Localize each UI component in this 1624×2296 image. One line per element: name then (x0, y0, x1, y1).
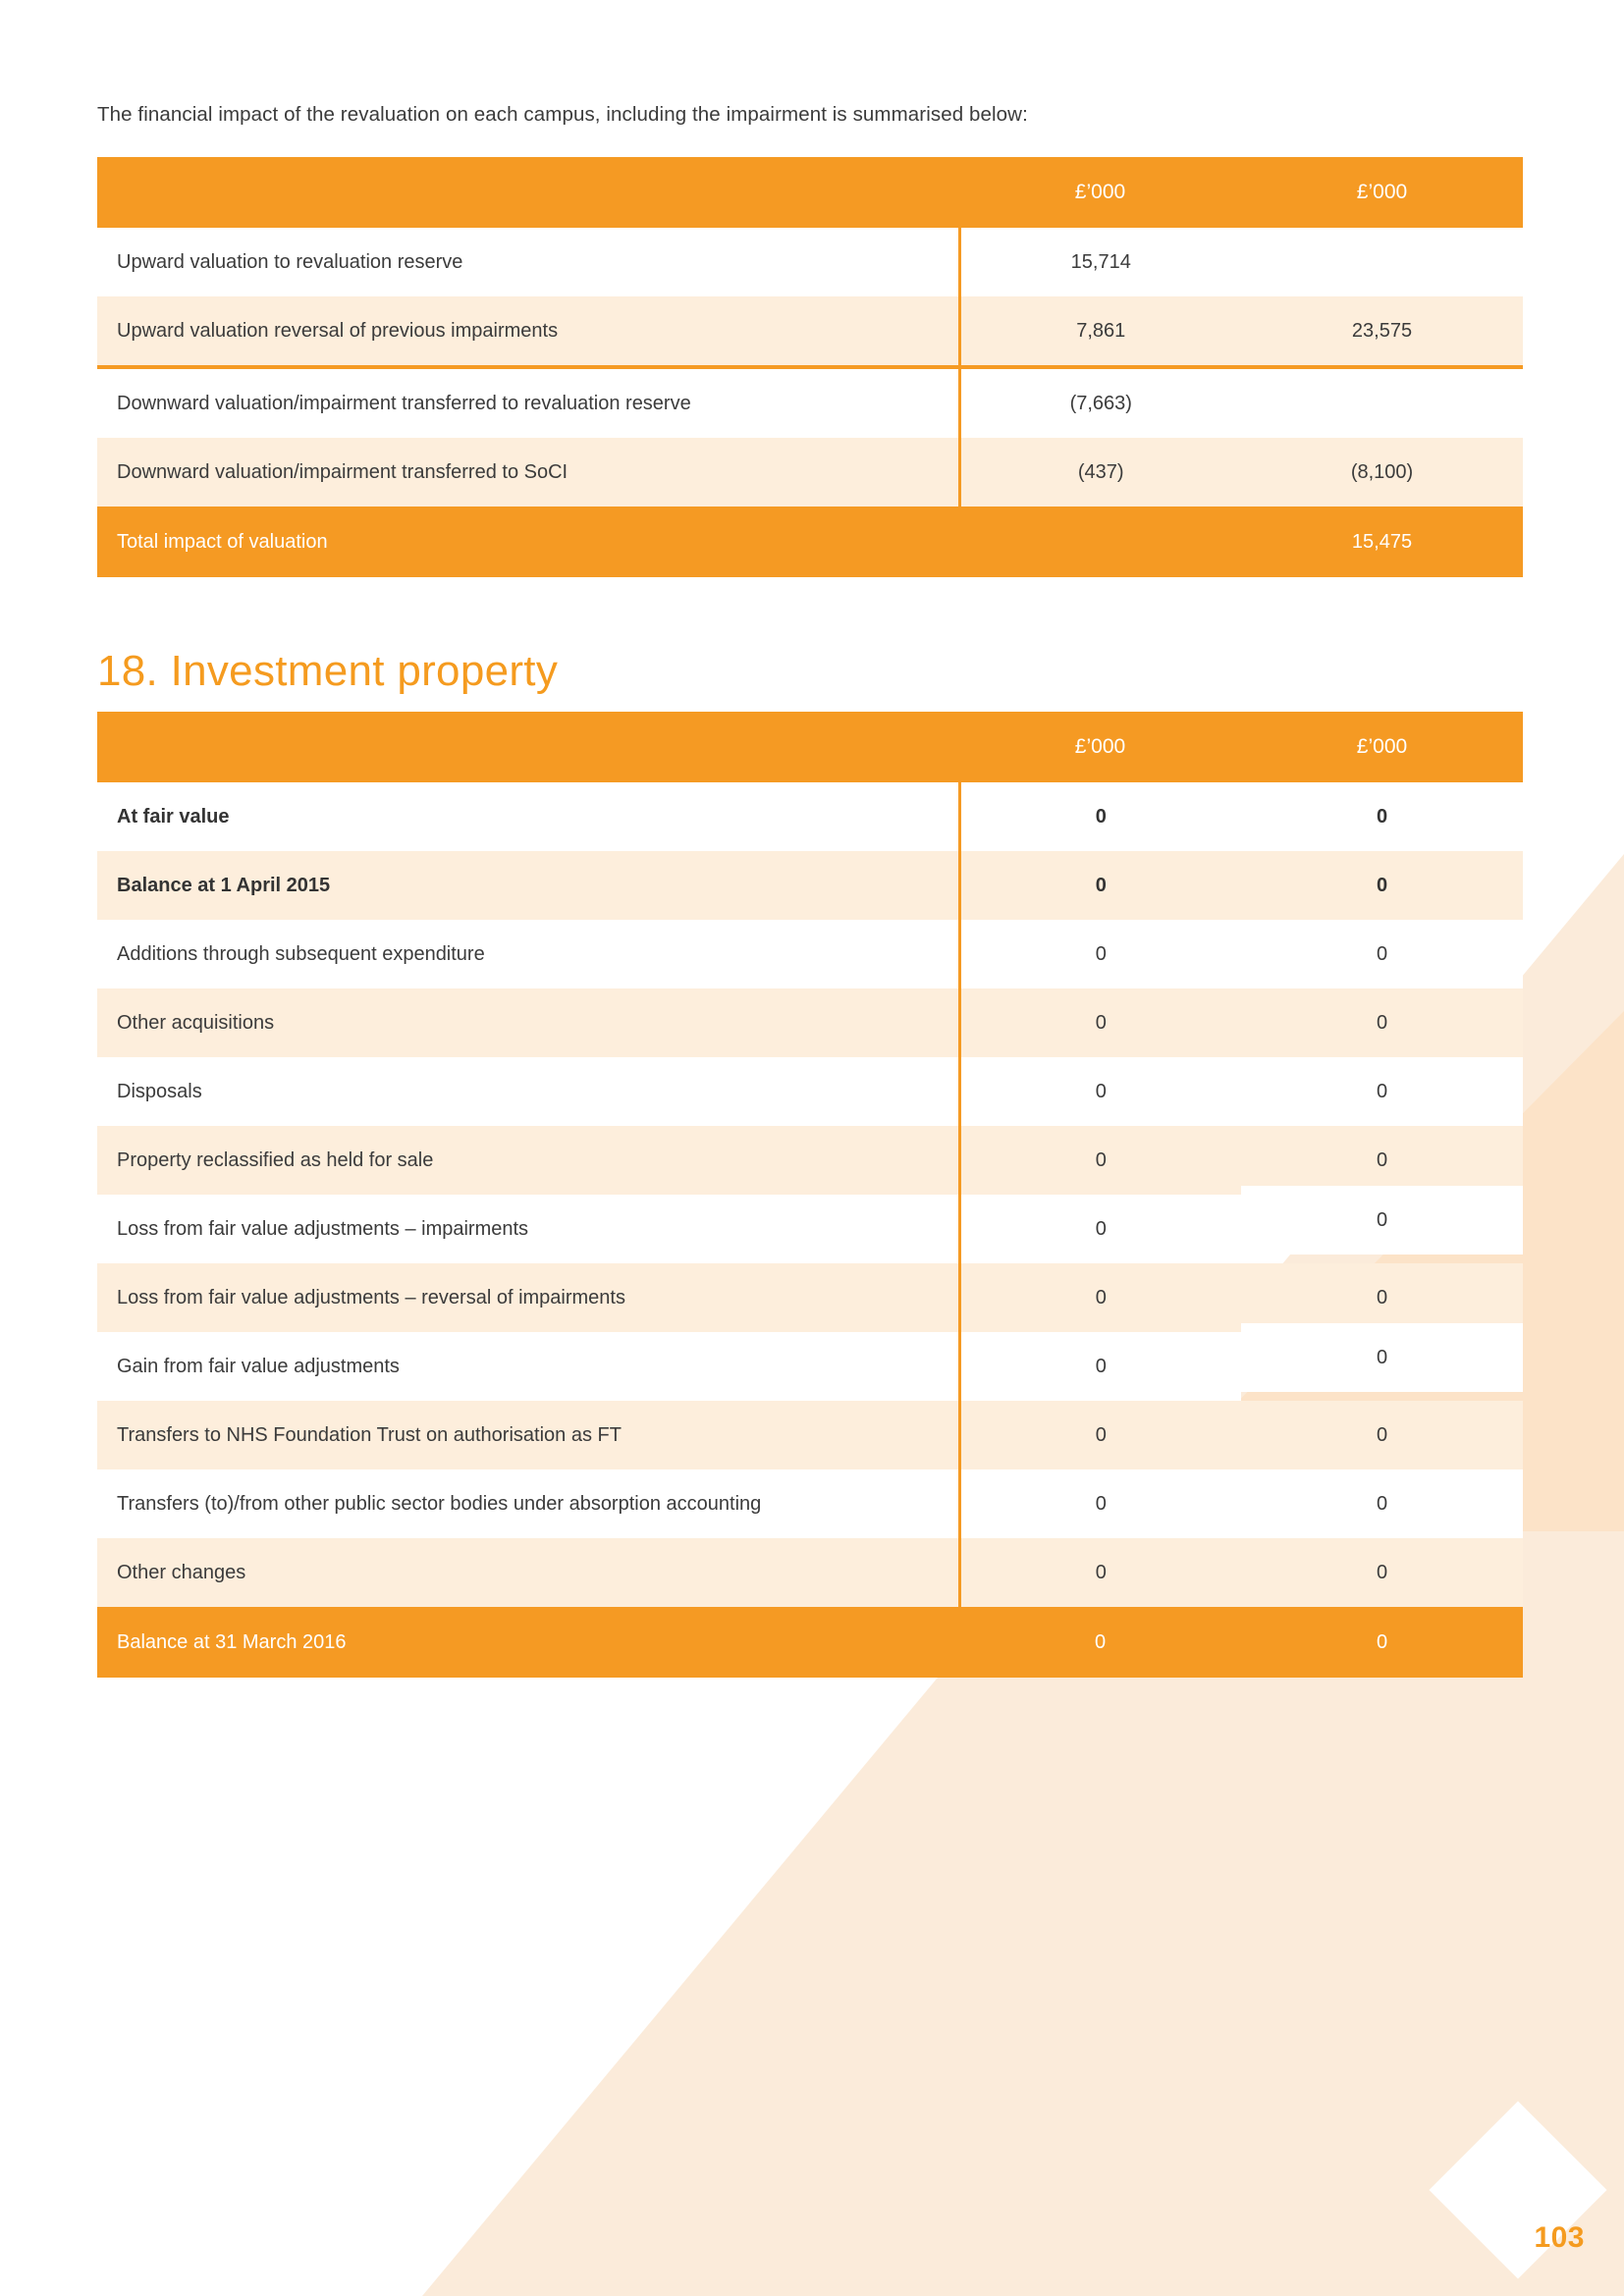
document-page: The financial impact of the revaluation … (0, 0, 1624, 2296)
table-row: Disposals 0 0 (97, 1057, 1523, 1126)
table-total-row: Total impact of valuation 15,475 (97, 507, 1523, 577)
table-row: Downward valuation/impairment transferre… (97, 367, 1523, 438)
row-value-col2 (1241, 228, 1523, 296)
table-body: At fair value 0 0 Balance at 1 April 201… (97, 782, 1523, 1678)
row-value-col1: 0 (959, 1469, 1241, 1538)
row-value-col2 (1241, 367, 1523, 438)
investment-property-table: £’000 £’000 At fair value 0 0 Balance at… (97, 712, 1523, 1678)
row-value-col1: 0 (959, 782, 1241, 851)
table-header: £’000 £’000 (97, 712, 1523, 782)
row-value-col1: (437) (959, 438, 1241, 507)
table-row: Other acquisitions 0 0 (97, 988, 1523, 1057)
total-value-col1: 0 (959, 1607, 1241, 1678)
row-label: Gain from fair value adjustments (97, 1332, 959, 1401)
table-header: £’000 £’000 (97, 157, 1523, 228)
total-value-col2: 0 (1241, 1607, 1523, 1678)
header-cell-col1: £’000 (959, 712, 1241, 782)
table-row: At fair value 0 0 (97, 782, 1523, 851)
table-row: Upward valuation reversal of previous im… (97, 296, 1523, 367)
header-row: £’000 £’000 (97, 712, 1523, 782)
header-cell-label (97, 712, 959, 782)
row-value-col2: 0 (1241, 1469, 1523, 1538)
row-label: Balance at 1 April 2015 (97, 851, 959, 920)
table-row: Property reclassified as held for sale 0… (97, 1126, 1523, 1195)
row-label: Disposals (97, 1057, 959, 1126)
table-row: Other changes 0 0 (97, 1538, 1523, 1607)
row-value-col1: 0 (959, 1263, 1241, 1332)
row-value-col1: 0 (959, 1057, 1241, 1126)
row-label: Upward valuation reversal of previous im… (97, 296, 959, 367)
page-number-badge: 103 (1441, 2113, 1606, 2278)
row-label: At fair value (97, 782, 959, 851)
row-value-col1: 0 (959, 1332, 1241, 1401)
total-label: Balance at 31 March 2016 (97, 1607, 959, 1678)
row-value-col1: 15,714 (959, 228, 1241, 296)
total-value-col2: 15,475 (1241, 507, 1523, 577)
table-row: Loss from fair value adjustments – impai… (97, 1195, 1523, 1263)
row-value-col2: 0 (1241, 1323, 1523, 1392)
row-value-col1: 0 (959, 1195, 1241, 1263)
header-row: £’000 £’000 (97, 157, 1523, 228)
page-number-text: 103 (1534, 2223, 1585, 2253)
row-value-col1: (7,663) (959, 367, 1241, 438)
row-value-col2: 0 (1241, 851, 1523, 920)
table-row: Transfers (to)/from other public sector … (97, 1469, 1523, 1538)
row-value-col1: 0 (959, 920, 1241, 988)
row-value-col2: 0 (1241, 1401, 1523, 1469)
row-label: Loss from fair value adjustments – rever… (97, 1263, 959, 1332)
table-total-row: Balance at 31 March 2016 0 0 (97, 1607, 1523, 1678)
table-row: Downward valuation/impairment transferre… (97, 438, 1523, 507)
row-value-col2: 0 (1241, 1186, 1523, 1255)
row-label: Downward valuation/impairment transferre… (97, 438, 959, 507)
row-label: Other changes (97, 1538, 959, 1607)
revaluation-impact-table: £’000 £’000 Upward valuation to revaluat… (97, 157, 1523, 577)
row-value-col2: 0 (1241, 1057, 1523, 1126)
table-row: Gain from fair value adjustments 0 0 (97, 1332, 1523, 1401)
row-label: Property reclassified as held for sale (97, 1126, 959, 1195)
table-row: Additions through subsequent expenditure… (97, 920, 1523, 988)
table-row: Loss from fair value adjustments – rever… (97, 1263, 1523, 1332)
row-label: Additions through subsequent expenditure (97, 920, 959, 988)
total-value-col1 (959, 507, 1241, 577)
header-cell-col2: £’000 (1241, 712, 1523, 782)
row-label: Downward valuation/impairment transferre… (97, 367, 959, 438)
row-value-col2: 23,575 (1241, 296, 1523, 367)
total-label: Total impact of valuation (97, 507, 959, 577)
header-cell-label (97, 157, 959, 228)
row-value-col2: 0 (1241, 920, 1523, 988)
intro-paragraph: The financial impact of the revaluation … (97, 102, 1472, 129)
row-value-col1: 0 (959, 851, 1241, 920)
row-label: Transfers to NHS Foundation Trust on aut… (97, 1401, 959, 1469)
table-row: Balance at 1 April 2015 0 0 (97, 851, 1523, 920)
header-cell-col2: £’000 (1241, 157, 1523, 228)
header-cell-col1: £’000 (959, 157, 1241, 228)
table-body: Upward valuation to revaluation reserve … (97, 228, 1523, 577)
section-heading-investment-property: 18. Investment property (97, 650, 558, 693)
row-value-col2: 0 (1241, 988, 1523, 1057)
row-value-col2: 0 (1241, 1538, 1523, 1607)
row-value-col1: 0 (959, 1126, 1241, 1195)
row-value-col2: 0 (1241, 1263, 1523, 1332)
page-number-diamond-shape (1429, 2101, 1606, 2278)
table-row: Transfers to NHS Foundation Trust on aut… (97, 1401, 1523, 1469)
row-label: Upward valuation to revaluation reserve (97, 228, 959, 296)
row-value-col1: 0 (959, 1401, 1241, 1469)
row-value-col1: 7,861 (959, 296, 1241, 367)
row-value-col1: 0 (959, 1538, 1241, 1607)
row-value-col2: 0 (1241, 782, 1523, 851)
row-label: Loss from fair value adjustments – impai… (97, 1195, 959, 1263)
row-label: Transfers (to)/from other public sector … (97, 1469, 959, 1538)
row-value-col2: (8,100) (1241, 438, 1523, 507)
table-row: Upward valuation to revaluation reserve … (97, 228, 1523, 296)
row-value-col2: 0 (1241, 1126, 1523, 1195)
row-value-col1: 0 (959, 988, 1241, 1057)
row-label: Other acquisitions (97, 988, 959, 1057)
